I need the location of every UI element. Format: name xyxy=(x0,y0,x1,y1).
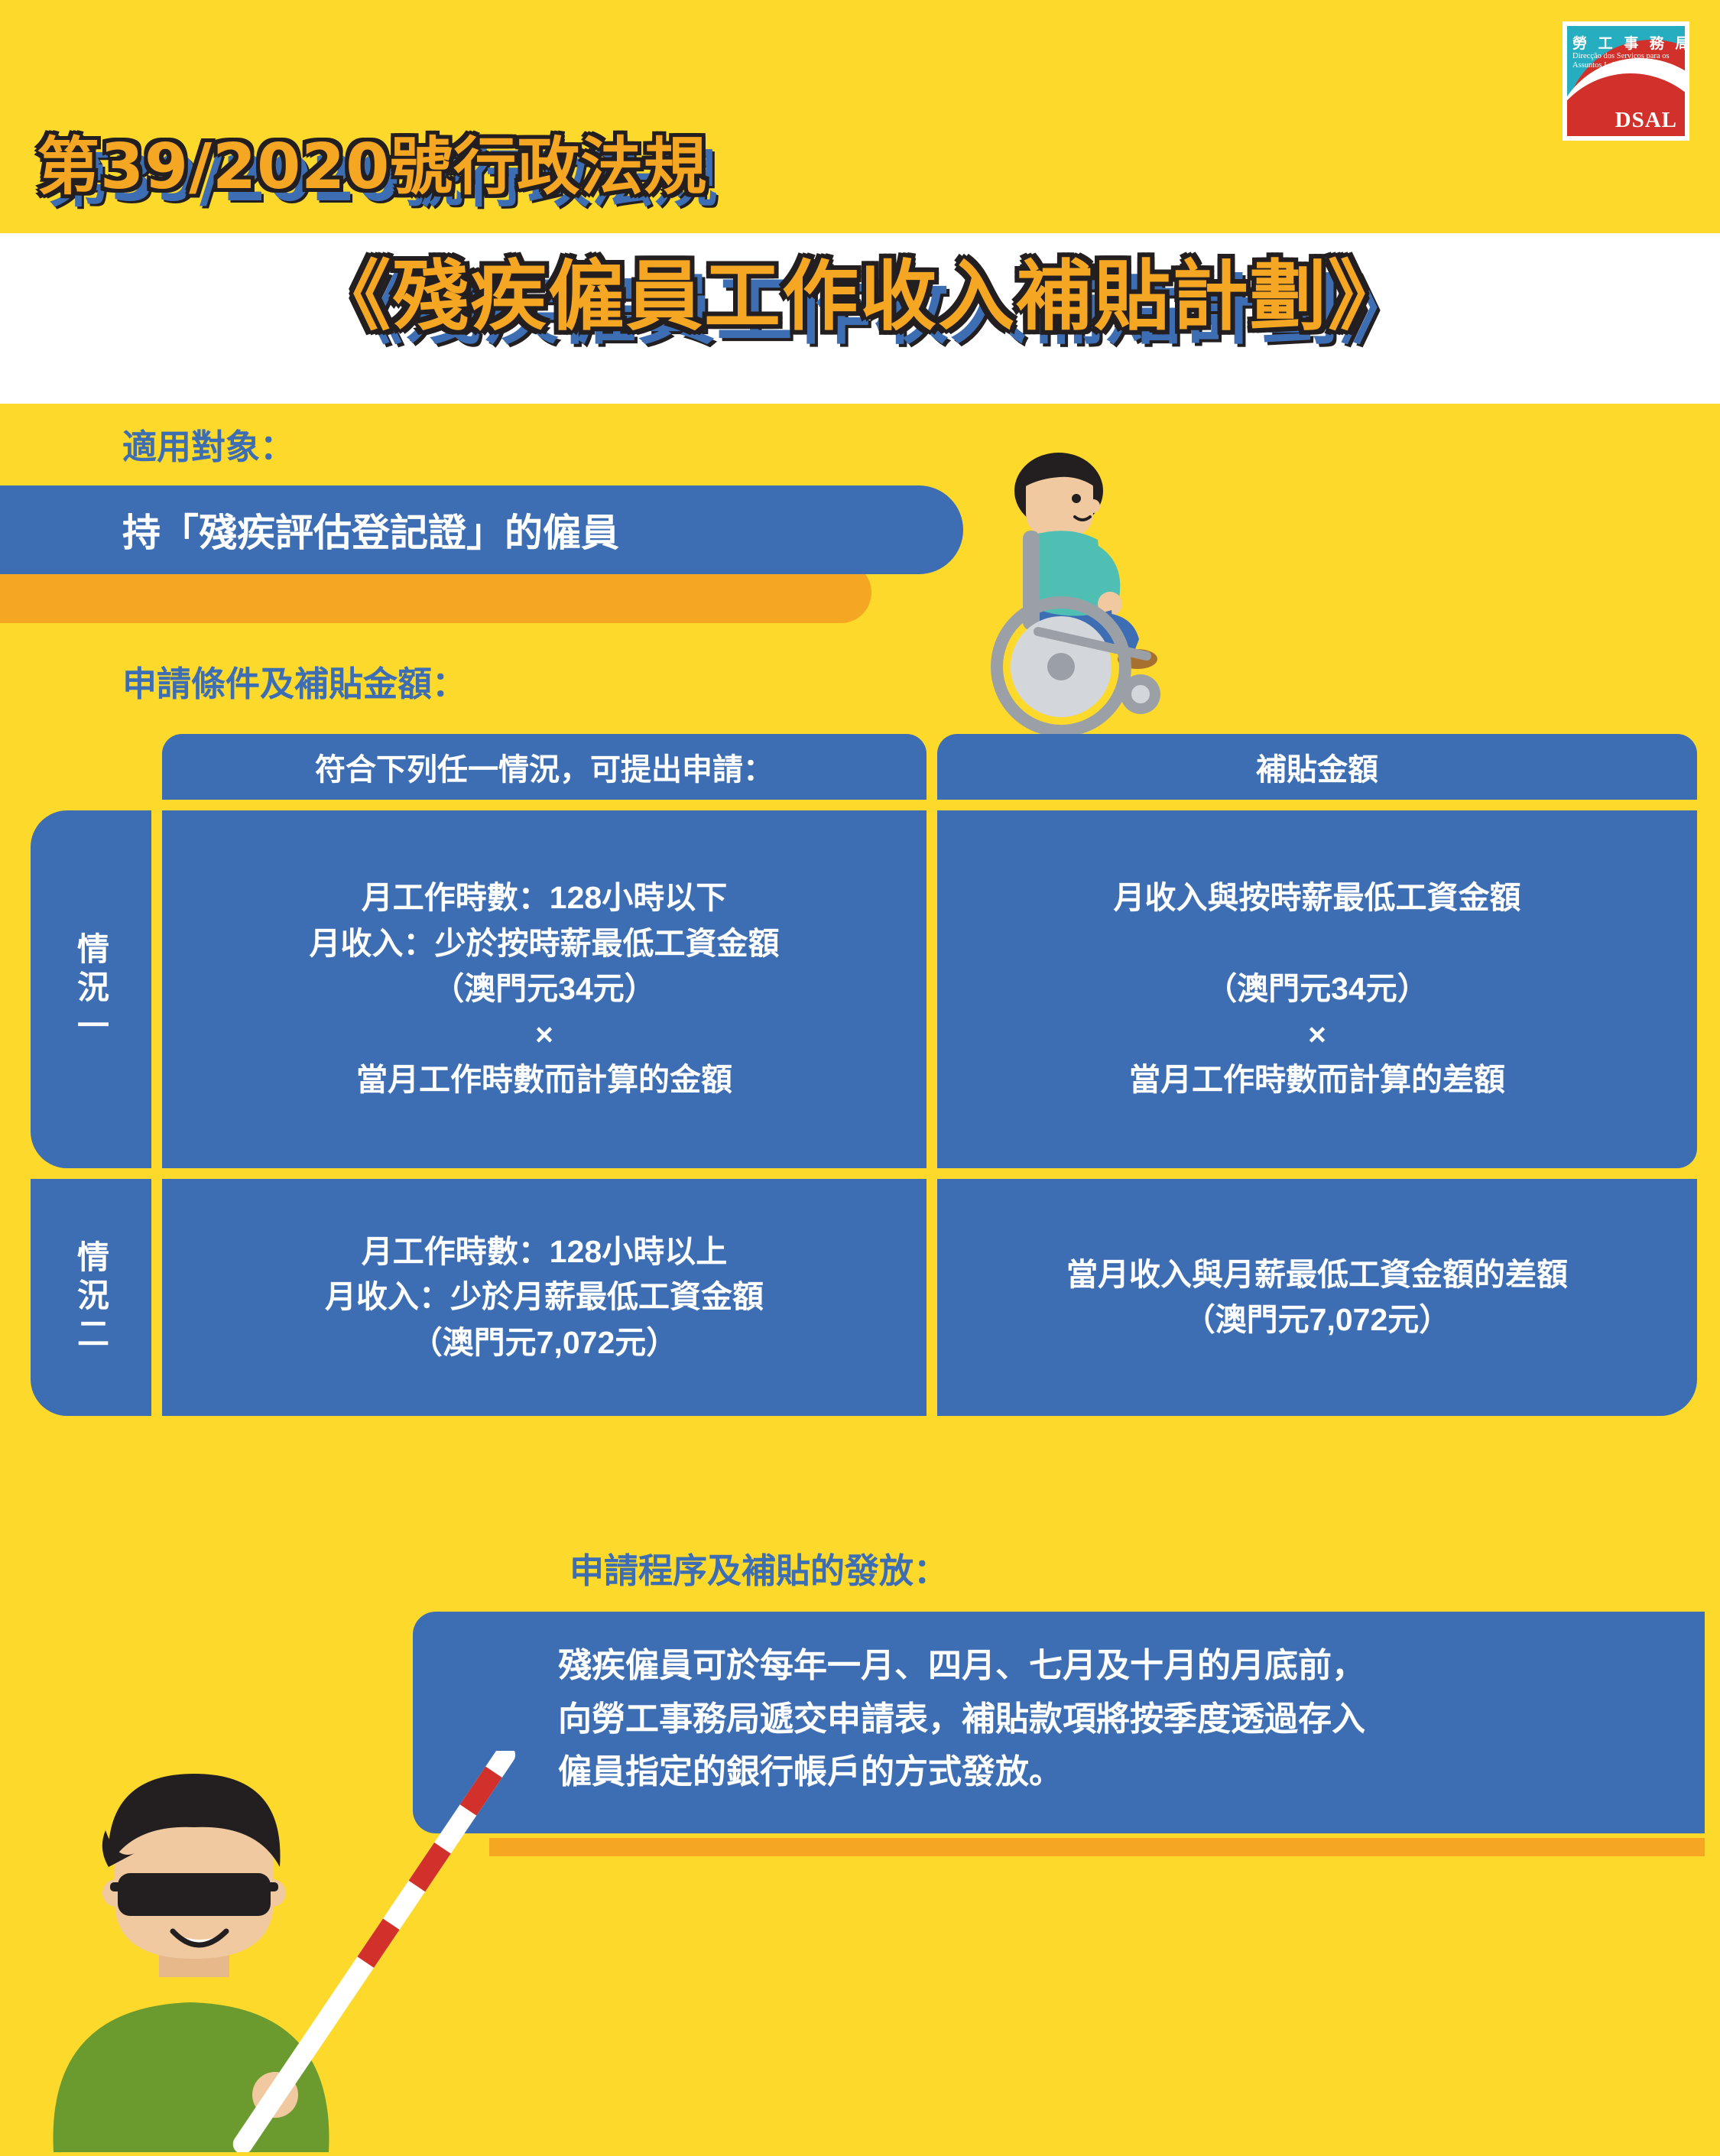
procedure-line-3: 僱員指定的銀行帳戶的方式發放。 xyxy=(558,1745,1651,1799)
cell-case-1-amount-text: 月收入與按時薪最低工資金額 （澳門元34元） × 當月工作時數而計算的差額 xyxy=(1094,875,1541,1102)
case-1-amt-line-1: 月收入與按時薪最低工資金額 xyxy=(1114,875,1521,921)
target-pill-text: 持「殘疾評估登記證」的僱員 xyxy=(122,502,619,557)
procedure-section-label: 申請程序及補貼的發放： xyxy=(570,1543,948,1593)
procedure-line-1: 殘疾僱員可於每年一月、四月、七月及十月的月底前， xyxy=(558,1639,1651,1693)
row-label-case-2: 情況二 xyxy=(31,1179,151,1416)
wheelchair-user-illustration xyxy=(978,451,1208,749)
cell-case-2-amount-text: 當月收入與月薪最低工資金額的差額 （澳門元7,072元） xyxy=(1047,1252,1588,1343)
case-2-cond-line-3: （澳門元7,072元） xyxy=(325,1320,764,1365)
dsal-logo: 勞 工 事 務 局 Direcção dos Serviços para os … xyxy=(1563,21,1689,141)
target-section-label: 適用對象： xyxy=(122,419,294,469)
case-1-amt-line-3: （澳門元34元） xyxy=(1114,966,1521,1011)
procedure-text: 殘疾僱員可於每年一月、四月、七月及十月的月底前， 向勞工事務局遞交申請表，補貼款… xyxy=(413,1612,1705,1799)
regulation-number: 第39/2020號行政法規 xyxy=(37,136,707,199)
conditions-table: 符合下列任一情況，可提出申請： 補貼金額 情況一 月工作時數：128小時以下 月… xyxy=(31,734,1697,1427)
table-header-row: 符合下列任一情況，可提出申請： 補貼金額 xyxy=(31,734,1697,800)
case-1-cond-line-4: × xyxy=(310,1012,780,1057)
table-header-spacer xyxy=(31,734,151,800)
case-2-cond-line-1: 月工作時數：128小時以上 xyxy=(325,1229,764,1274)
cell-case-1-amount: 月收入與按時薪最低工資金額 （澳門元34元） × 當月工作時數而計算的差額 xyxy=(937,810,1697,1168)
page-title: 《殘疾僱員工作收入補貼計劃》 xyxy=(0,251,1720,343)
case-1-cond-line-3: （澳門元34元） xyxy=(310,966,780,1011)
case-2-amt-line-2: （澳門元7,072元） xyxy=(1066,1297,1568,1343)
table-header-conditions: 符合下列任一情況，可提出申請： xyxy=(162,734,927,800)
logo-abbreviation: DSAL xyxy=(1615,108,1677,133)
case-1-amt-line-4: × xyxy=(1114,1012,1521,1057)
row-label-case-1: 情況一 xyxy=(31,810,151,1168)
procedure-box: 殘疾僱員可於每年一月、四月、七月及十月的月底前， 向勞工事務局遞交申請表，補貼款… xyxy=(413,1612,1705,1833)
logo-inner: 勞 工 事 務 局 Direcção dos Serviços para os … xyxy=(1567,26,1685,136)
procedure-accent-bar xyxy=(489,1838,1705,1856)
case-2-amt-line-1: 當月收入與月薪最低工資金額的差額 xyxy=(1066,1252,1568,1297)
case-1-cond-line-1: 月工作時數：128小時以下 xyxy=(310,875,780,921)
procedure-line-2: 向勞工事務局遞交申請表，補貼款項將按季度透過存入 xyxy=(558,1693,1651,1746)
case-1-cond-line-5: 當月工作時數而計算的金額 xyxy=(310,1057,780,1102)
cell-case-2-conditions-text: 月工作時數：128小時以上 月收入：少於月薪最低工資金額 （澳門元7,072元） xyxy=(305,1229,784,1365)
cell-case-2-conditions: 月工作時數：128小時以上 月收入：少於月薪最低工資金額 （澳門元7,072元） xyxy=(162,1179,927,1416)
case-1-cond-line-2: 月收入：少於按時薪最低工資金額 xyxy=(310,921,780,966)
table-header-amount: 補貼金額 xyxy=(937,734,1697,800)
logo-chinese-name: 勞 工 事 務 局 xyxy=(1572,32,1681,53)
cell-case-1-conditions: 月工作時數：128小時以下 月收入：少於按時薪最低工資金額 （澳門元34元） ×… xyxy=(162,810,927,1168)
target-pill: 持「殘疾評估登記證」的僱員 xyxy=(0,485,963,574)
table-row: 情況二 月工作時數：128小時以上 月收入：少於月薪最低工資金額 （澳門元7,0… xyxy=(31,1179,1697,1416)
cell-case-2-amount: 當月收入與月薪最低工資金額的差額 （澳門元7,072元） xyxy=(937,1179,1697,1416)
infographic-page: 勞 工 事 務 局 Direcção dos Serviços para os … xyxy=(0,0,1720,2150)
case-1-amt-line-2 xyxy=(1114,921,1521,966)
table-row: 情況一 月工作時數：128小時以下 月收入：少於按時薪最低工資金額 （澳門元34… xyxy=(31,810,1697,1168)
case-2-cond-line-2: 月收入：少於月薪最低工資金額 xyxy=(325,1274,764,1320)
logo-portuguese-name: Direcção dos Serviços para os Assuntos L… xyxy=(1572,52,1680,70)
blind-man-with-cane-illustration xyxy=(23,1751,558,2152)
cell-case-1-conditions-text: 月工作時數：128小時以下 月收入：少於按時薪最低工資金額 （澳門元34元） ×… xyxy=(290,875,800,1102)
conditions-section-label: 申請條件及補貼金額： xyxy=(122,656,466,706)
case-1-amt-line-5: 當月工作時數而計算的差額 xyxy=(1114,1057,1521,1102)
